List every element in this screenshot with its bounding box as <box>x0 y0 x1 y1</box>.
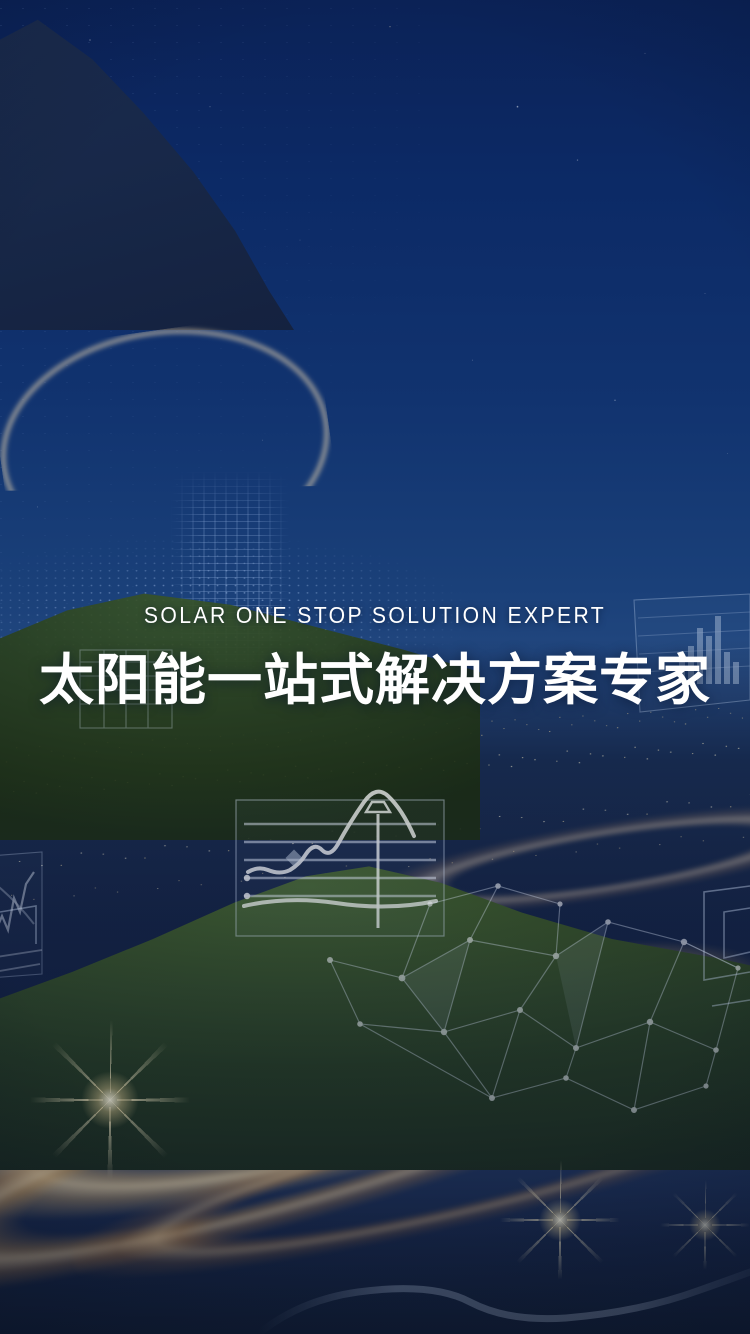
banner-headline: 太阳能一站式解决方案专家 <box>0 651 750 710</box>
solar-banner-screen: SOLAR ONE STOP SOLUTION EXPERT 太阳能一站式解决方… <box>0 0 750 1334</box>
banner-eyebrow: SOLAR ONE STOP SOLUTION EXPERT <box>30 604 720 627</box>
banner-copy: SOLAR ONE STOP SOLUTION EXPERT 太阳能一站式解决方… <box>0 604 750 710</box>
